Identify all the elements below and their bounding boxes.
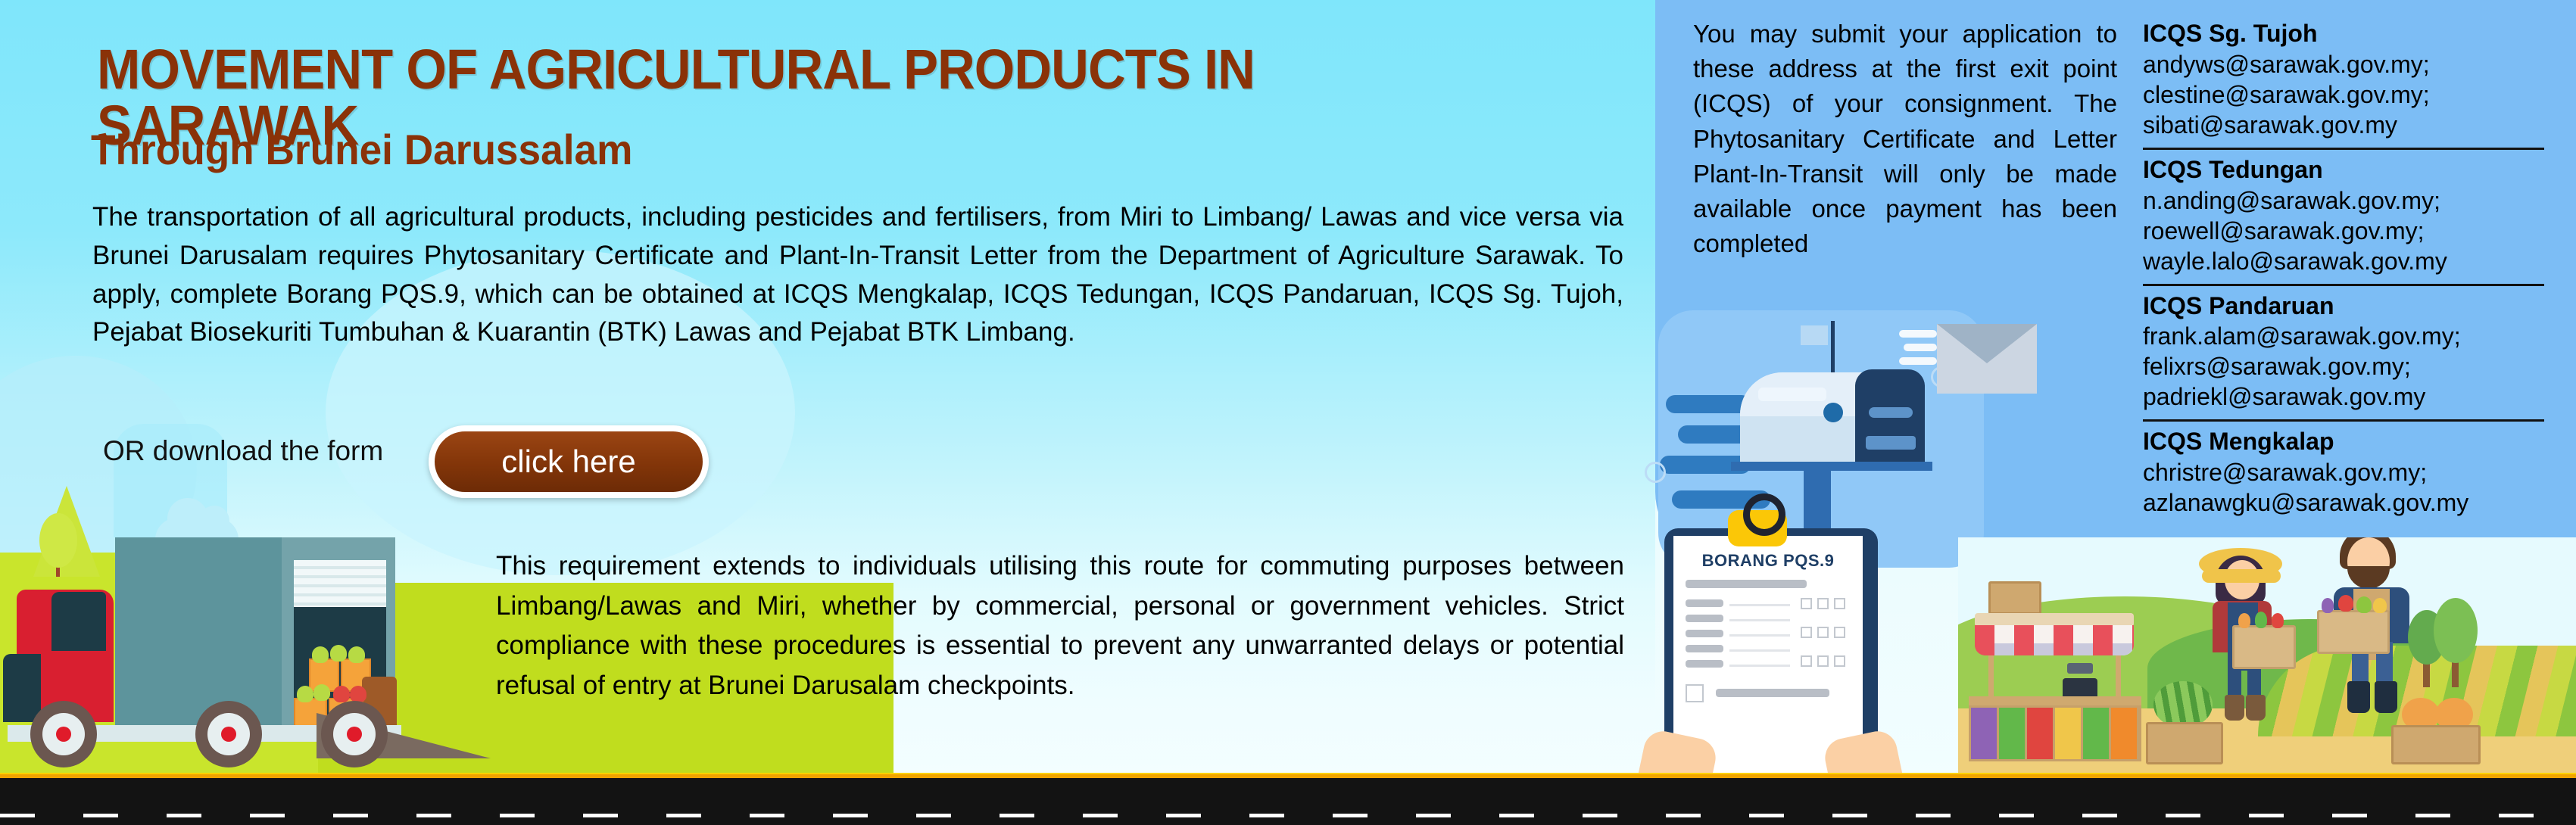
form-line	[1686, 645, 1723, 652]
motion-line	[1899, 357, 1937, 365]
tomato-icon	[2272, 613, 2284, 628]
truck-nose	[3, 654, 41, 722]
form-rule	[1729, 665, 1790, 667]
beard	[2347, 566, 2390, 589]
form-title: BORANG PQS.9	[1673, 551, 1863, 571]
bottom-paragraph: This requirement extends to individuals …	[496, 546, 1624, 705]
form-rule	[1729, 634, 1790, 637]
stall-produce-crates	[1969, 705, 2141, 761]
office-email[interactable]: sibati@sarawak.gov.my	[2143, 110, 2544, 140]
office-name: ICQS Sg. Tujoh	[2143, 20, 2544, 48]
mailbox-slot	[1869, 407, 1913, 418]
produce-carrot	[2111, 708, 2139, 759]
form-rule	[1729, 619, 1790, 621]
farm-market-illustration	[1958, 537, 2576, 778]
vegetable-icon	[330, 645, 347, 662]
vegetable-icon	[312, 646, 329, 663]
form-rule	[1729, 604, 1790, 606]
motion-line	[1899, 330, 1937, 338]
eggplant-icon	[2322, 598, 2334, 613]
vegetable-crate	[2317, 610, 2390, 654]
office-name: ICQS Pandaruan	[2143, 292, 2544, 320]
produce-corn	[2055, 708, 2083, 759]
sack-box	[1988, 581, 2041, 615]
form-checkbox[interactable]	[1801, 598, 1812, 609]
office-email[interactable]: felixrs@sarawak.gov.my;	[2143, 351, 2544, 381]
scale-platform	[2067, 663, 2093, 674]
office-email[interactable]: roewell@sarawak.gov.my;	[2143, 216, 2544, 246]
produce-cabbage	[2083, 708, 2111, 759]
boot	[2347, 681, 2370, 713]
mailbox-flag-knob	[1823, 403, 1843, 422]
poster-banner: MOVEMENT OF AGRICULTURAL PRODUCTS IN SAR…	[0, 0, 2576, 825]
road	[0, 774, 2576, 825]
stall-counter	[1969, 696, 2141, 705]
contact-block-pandaruan: ICQS Pandaruan frank.alam@sarawak.gov.my…	[2143, 284, 2544, 416]
corn-icon	[2373, 598, 2387, 613]
vegetable-icon	[348, 646, 365, 663]
truck-shutter	[294, 560, 386, 607]
office-email[interactable]: azlanawgku@sarawak.gov.my	[2143, 487, 2544, 518]
form-checkbox[interactable]	[1817, 627, 1829, 638]
form-line	[1716, 689, 1829, 697]
cabbage-icon	[2356, 596, 2372, 613]
lock-icon	[1728, 510, 1787, 546]
download-prompt-label: OR download the form	[103, 435, 383, 467]
submission-note: You may submit your application to these…	[1693, 17, 2117, 261]
produce-tomato	[2027, 708, 2055, 759]
market-stall	[1975, 613, 2134, 711]
vegetable-icon	[297, 686, 313, 702]
decorative-ring	[1645, 462, 1666, 483]
page-subtitle: Through Brunei Darussalam	[91, 129, 632, 171]
mailbox-flag	[1801, 325, 1828, 345]
form-checkbox[interactable]	[1834, 655, 1845, 667]
contact-block-tedungan: ICQS Tedungan n.anding@sarawak.gov.my; r…	[2143, 148, 2544, 279]
stall-leg	[2116, 655, 2121, 698]
motion-line	[1666, 395, 1751, 413]
office-name: ICQS Mengkalap	[2143, 428, 2544, 456]
office-email[interactable]: padriekl@sarawak.gov.my	[2143, 381, 2544, 412]
form-checkbox[interactable]	[1834, 627, 1845, 638]
carrot-icon	[2238, 613, 2250, 628]
truck-window	[51, 592, 106, 651]
greens-icon	[2255, 612, 2267, 628]
form-rule	[1729, 649, 1790, 652]
office-email[interactable]: frank.alam@sarawak.gov.my;	[2143, 321, 2544, 351]
produce-box	[2391, 725, 2481, 764]
delivery-truck-illustration	[0, 509, 485, 781]
produce-box	[2146, 722, 2223, 764]
tree-foliage-icon	[39, 513, 77, 568]
office-email[interactable]: wayle.lalo@sarawak.gov.my	[2143, 246, 2544, 276]
form-line	[1686, 630, 1723, 637]
contact-block-sg-tujoh: ICQS Sg. Tujoh andyws@sarawak.gov.my; cl…	[2143, 20, 2544, 143]
envelope-icon	[1937, 324, 2037, 394]
form-checkbox[interactable]	[1834, 598, 1845, 609]
contact-list: ICQS Sg. Tujoh andyws@sarawak.gov.my; cl…	[2143, 20, 2544, 525]
form-checkbox[interactable]	[1801, 627, 1812, 638]
hat-brim	[2202, 569, 2281, 583]
form-checkbox[interactable]	[1817, 598, 1829, 609]
form-checkbox[interactable]	[1801, 655, 1812, 667]
tomato-icon	[350, 686, 366, 702]
body-paragraph: The transportation of all agricultural p…	[92, 198, 1623, 352]
vegetable-crate	[2232, 625, 2296, 669]
office-email[interactable]: n.anding@sarawak.gov.my;	[2143, 185, 2544, 216]
form-line	[1686, 580, 1807, 588]
click-here-button[interactable]: click here	[429, 425, 709, 498]
mailbox-base	[1731, 462, 1932, 471]
form-line	[1686, 660, 1723, 668]
tomato-icon	[333, 686, 350, 702]
produce-eggplant	[1971, 708, 1999, 759]
produce-greens	[1999, 708, 2027, 759]
stall-awning-scallop	[1975, 643, 2134, 655]
tomato-icon	[2338, 595, 2353, 612]
stall-leg	[1988, 655, 1994, 698]
motion-line	[1904, 344, 1937, 351]
office-name: ICQS Tedungan	[2143, 156, 2544, 184]
boot	[2246, 695, 2266, 721]
vegetable-icon	[313, 684, 330, 701]
tree-foliage-icon	[2434, 598, 2478, 663]
office-email[interactable]: andyws@sarawak.gov.my;	[2143, 49, 2544, 79]
truck-wheel	[195, 701, 262, 767]
mailbox-door	[1855, 369, 1925, 466]
contact-block-mengkalap: ICQS Mengkalap christre@sarawak.gov.my; …	[2143, 419, 2544, 521]
truck-wheel	[30, 701, 97, 767]
form-checkbox[interactable]	[1686, 684, 1704, 702]
office-email[interactable]: christre@sarawak.gov.my;	[2143, 457, 2544, 487]
office-email[interactable]: clestine@sarawak.gov.my;	[2143, 79, 2544, 110]
watermelon-icon	[2153, 681, 2213, 728]
mailbox-slot	[1866, 436, 1916, 450]
truck-wheel	[321, 701, 388, 767]
boot	[2375, 681, 2397, 713]
boot	[2225, 695, 2244, 721]
form-line	[1686, 615, 1723, 622]
form-line	[1686, 599, 1723, 607]
form-checkbox[interactable]	[1817, 655, 1829, 667]
mailbox-highlight	[1758, 388, 1826, 401]
